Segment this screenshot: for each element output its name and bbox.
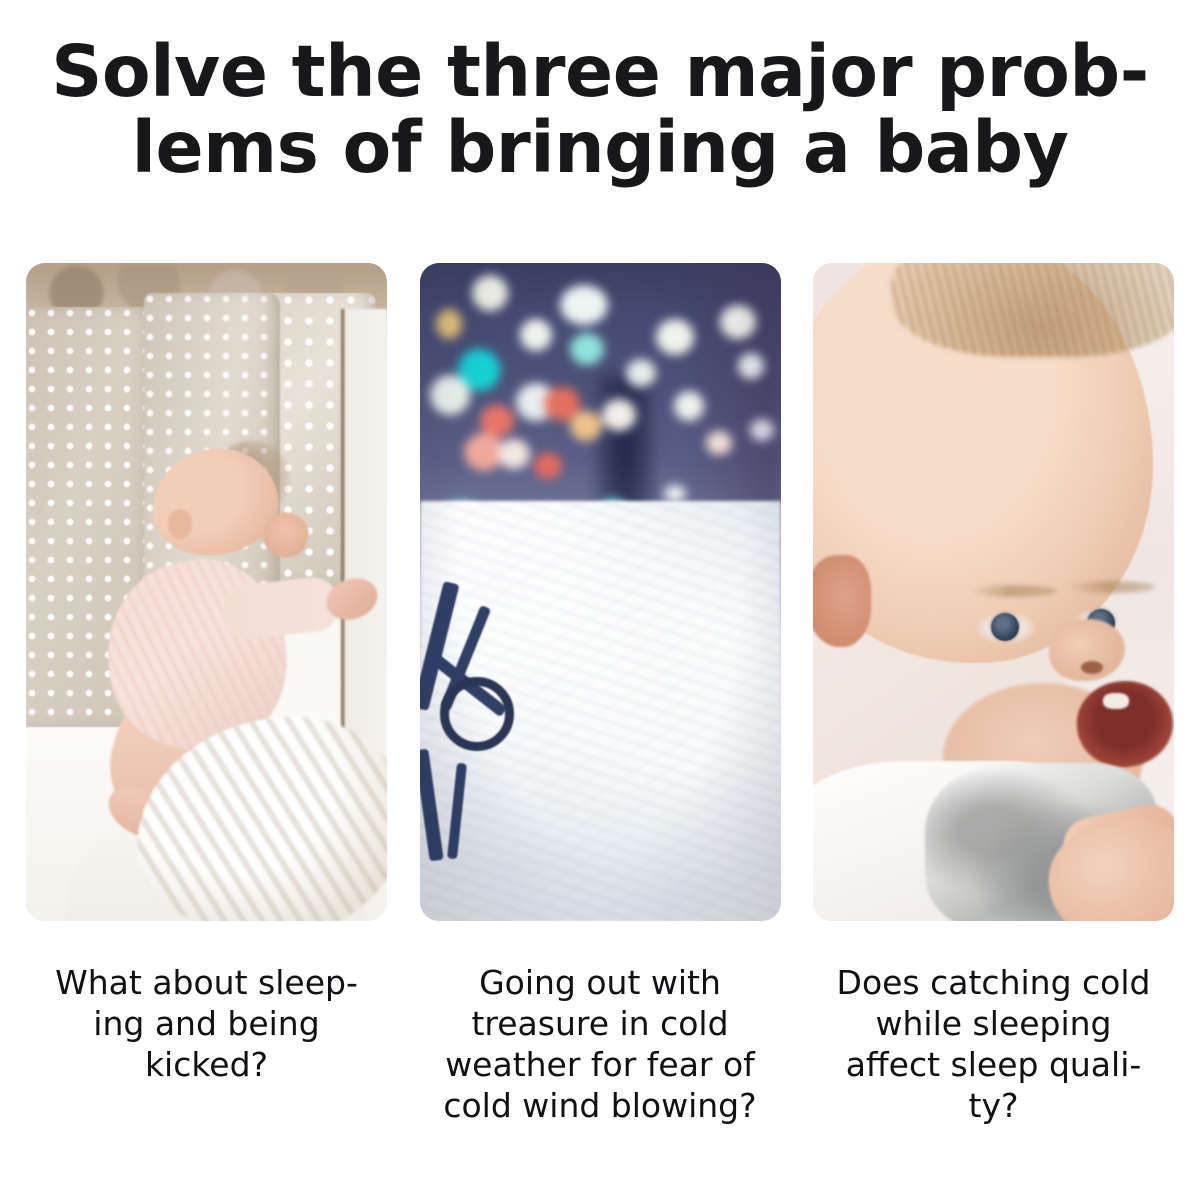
baby-ear — [813, 555, 871, 647]
image-panel-cold-weather[interactable] — [420, 263, 781, 921]
page-title: Solve the three major prob- lems of brin… — [0, 34, 1200, 186]
image-panel-sleeping-kicked[interactable] — [26, 263, 387, 921]
page-title-line-2: lems of bringing a baby — [0, 110, 1200, 186]
caption-line: treasure in cold — [471, 1004, 728, 1043]
caption-line: Does catching cold — [837, 963, 1151, 1002]
caption-line: cold wind blowing? — [443, 1086, 756, 1125]
caption-line: kicked? — [145, 1045, 268, 1084]
baby-ear — [168, 509, 192, 539]
caption-cold-weather: Going out with treasure in cold weather … — [420, 962, 781, 1126]
caption-line: ing and being — [93, 1004, 319, 1043]
promo-page: Solve the three major prob- lems of brin… — [0, 0, 1200, 1200]
caption-row: What about sleep- ing and being kicked? … — [26, 962, 1174, 1126]
baby-iris-left — [991, 613, 1019, 641]
baby-eyebrow-left — [971, 585, 1057, 597]
caption-sleeping-kicked: What about sleep- ing and being kicked? — [26, 962, 387, 1126]
caption-line: Going out with — [479, 963, 721, 1002]
baby-hair — [891, 263, 1174, 357]
panel-row — [26, 263, 1174, 921]
caption-line: ty? — [969, 1086, 1019, 1125]
caption-line: affect sleep quali- — [846, 1045, 1142, 1084]
night-vignette — [420, 263, 781, 921]
page-title-line-1: Solve the three major prob- — [0, 34, 1200, 110]
baby-nostril — [1081, 661, 1103, 674]
baby-tooth — [1103, 693, 1129, 709]
image-panel-catching-cold[interactable] — [813, 263, 1174, 921]
caption-line: weather for fear of — [445, 1045, 755, 1084]
baby-eyebrow-right — [1069, 581, 1155, 593]
caption-line: What about sleep- — [55, 963, 358, 1002]
caption-catching-cold: Does catching cold while sleeping affect… — [813, 962, 1174, 1126]
caption-line: while sleeping — [876, 1004, 1112, 1043]
